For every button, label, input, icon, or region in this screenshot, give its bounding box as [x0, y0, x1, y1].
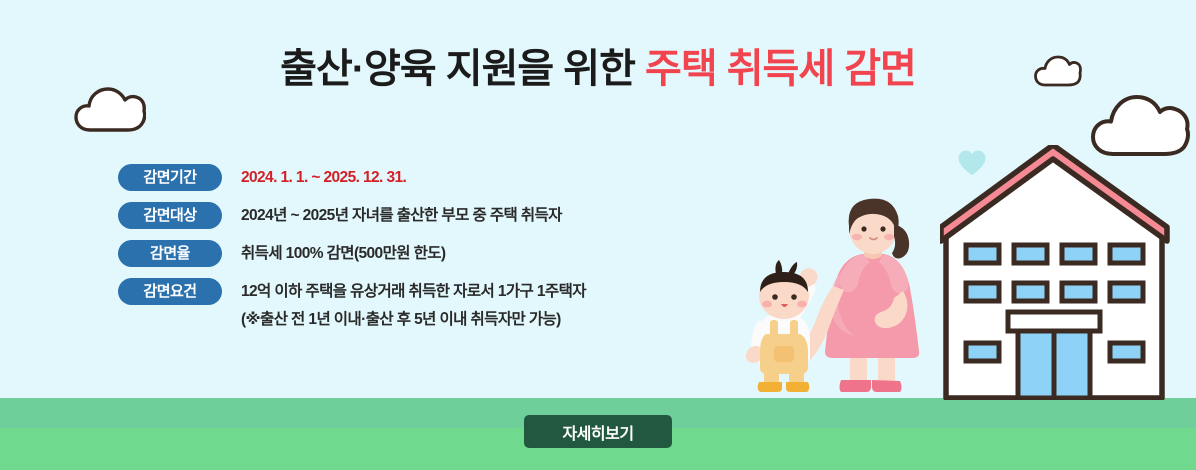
banner-title: 출산·양육 지원을 위한 주택 취득세 감면	[0, 36, 1196, 94]
family-illustration	[742, 196, 932, 401]
badge-reduction-rate: 감면율	[118, 240, 222, 267]
info-row: 감면기간 2024. 1. 1. ~ 2025. 12. 31.	[118, 164, 718, 191]
requirement-line-2: (※출산 전 1년 이내·출산 후 5년 이내 취득자만 가능)	[241, 305, 586, 335]
promo-banner: 출산·양육 지원을 위한 주택 취득세 감면 감면기간 2024. 1. 1. …	[0, 0, 1196, 470]
requirement-line-1: 12억 이하 주택을 유상거래 취득한 자로서 1가구 1주택자	[241, 283, 586, 300]
row-value-reduction-period: 2024. 1. 1. ~ 2025. 12. 31.	[241, 164, 406, 191]
badge-reduction-period: 감면기간	[118, 164, 222, 191]
row-value-reduction-rate: 취득세 100% 감면(500만원 한도)	[241, 240, 446, 267]
house-illustration	[940, 145, 1196, 400]
row-value-reduction-requirement: 12억 이하 주택을 유상거래 취득한 자로서 1가구 1주택자 (※출산 전 …	[241, 278, 586, 335]
badge-reduction-target: 감면대상	[118, 202, 222, 229]
badge-reduction-requirement: 감면요건	[118, 278, 222, 305]
info-row: 감면요건 12억 이하 주택을 유상거래 취득한 자로서 1가구 1주택자 (※…	[118, 278, 718, 335]
info-row: 감면율 취득세 100% 감면(500만원 한도)	[118, 240, 718, 267]
row-value-reduction-target: 2024년 ~ 2025년 자녀를 출산한 부모 중 주택 취득자	[241, 202, 562, 229]
view-details-button[interactable]: 자세히보기	[524, 415, 672, 448]
info-list: 감면기간 2024. 1. 1. ~ 2025. 12. 31. 감면대상 20…	[118, 164, 718, 346]
info-row: 감면대상 2024년 ~ 2025년 자녀를 출산한 부모 중 주택 취득자	[118, 202, 718, 229]
title-red-part: 주택 취득세 감면	[645, 47, 916, 91]
title-dark-part: 출산·양육 지원을 위한	[280, 47, 645, 91]
